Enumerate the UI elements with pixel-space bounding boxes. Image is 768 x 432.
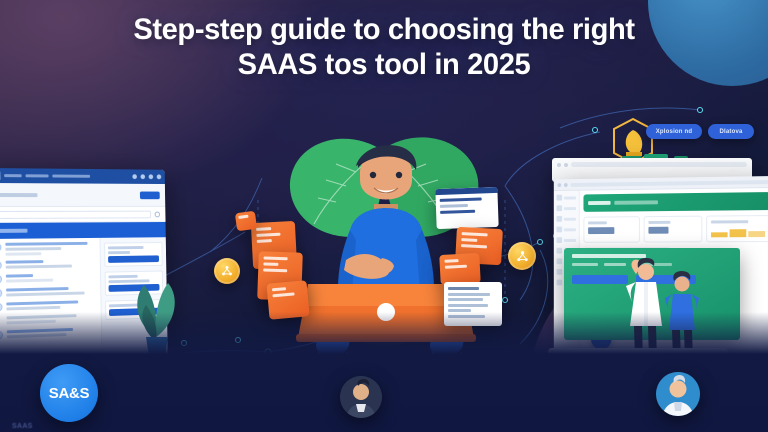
sidebar-item-orders[interactable] — [557, 205, 576, 211]
billing-icon — [557, 258, 563, 264]
row-avatar — [0, 289, 2, 298]
work-items-title — [0, 229, 27, 233]
floor-gradient-decor — [0, 312, 768, 432]
inbox-icon — [557, 216, 563, 222]
list-item[interactable] — [0, 273, 95, 284]
sidebar-item-files[interactable] — [557, 226, 576, 232]
window-dot — [557, 183, 561, 187]
avatar-icon[interactable] — [157, 174, 162, 179]
coin-icon[interactable] — [508, 242, 536, 270]
work-items-header — [0, 222, 166, 239]
page-title: Step-step guide to choosing the right SA… — [12, 12, 757, 83]
floating-tile-orange[interactable] — [235, 211, 257, 232]
stat-card[interactable] — [583, 216, 640, 243]
watermark-text: SAAS — [12, 423, 33, 430]
network-share-icon — [220, 264, 234, 278]
hero-banner: Step-step guide to choosing the right SA… — [0, 0, 768, 432]
nav-item-projects[interactable] — [26, 174, 49, 177]
left-dashboard-toolbar — [0, 183, 165, 207]
new-item-button[interactable] — [140, 191, 160, 199]
list-item[interactable] — [0, 286, 95, 297]
left-dashboard-search-row — [0, 207, 166, 223]
list-item[interactable] — [0, 259, 95, 270]
files-icon — [557, 227, 563, 233]
browser-url-bar[interactable] — [571, 162, 747, 167]
page-title-line-2: SAAS tos tool in 2025 — [44, 47, 723, 82]
breadcrumb — [0, 193, 37, 197]
home-icon — [557, 195, 563, 201]
search-icon[interactable] — [155, 211, 160, 217]
list-item[interactable] — [0, 242, 95, 256]
avatar-photo-2 — [656, 372, 700, 416]
row-avatar — [0, 275, 2, 284]
dashboard-banner — [583, 192, 768, 212]
row-avatar — [0, 303, 3, 312]
left-dashboard-navbar — [0, 168, 165, 184]
top-right-pill-primary[interactable]: Xplosion nd — [646, 124, 702, 139]
network-share-icon — [515, 249, 530, 264]
avatar[interactable] — [340, 376, 382, 418]
floating-card-orange[interactable] — [439, 253, 481, 285]
sidebar-item-home[interactable] — [557, 195, 576, 201]
gear-icon — [557, 280, 563, 286]
stat-value — [649, 227, 669, 234]
window-dot — [564, 183, 568, 187]
top-right-pill-secondary[interactable]: Dlatova — [708, 124, 754, 139]
panel-button-get-started[interactable] — [572, 275, 628, 284]
saas-logo-text: SA&S — [49, 385, 89, 402]
team-icon — [557, 269, 563, 275]
stat-card-row — [583, 215, 768, 243]
right-url-bar[interactable] — [570, 180, 768, 187]
calls-icon — [557, 237, 563, 243]
row-avatar — [0, 261, 2, 270]
browser-dot — [557, 163, 561, 167]
nav-item-dash[interactable] — [4, 174, 22, 177]
pill-label: Xplosion nd — [656, 129, 693, 135]
search-input[interactable] — [0, 210, 151, 218]
stat-value — [588, 227, 614, 234]
coin-icon[interactable] — [214, 258, 240, 284]
saas-logo-badge[interactable]: SA&S — [40, 364, 98, 422]
pill-label: Dlatova — [719, 129, 742, 135]
help-icon[interactable] — [140, 174, 145, 179]
stat-card[interactable] — [706, 215, 768, 242]
floating-window-white[interactable] — [435, 187, 498, 229]
avatar[interactable] — [656, 372, 700, 416]
sidebar-item-inbox[interactable] — [557, 216, 576, 222]
list-item[interactable] — [0, 300, 96, 312]
row-avatar — [0, 243, 2, 252]
bell-icon[interactable] — [132, 174, 137, 179]
nav-item-reports[interactable] — [52, 175, 90, 178]
browser-dot — [564, 163, 568, 167]
stat-card[interactable] — [644, 216, 702, 243]
reports-icon — [557, 248, 563, 254]
sidebar-item-calls[interactable] — [557, 237, 576, 243]
page-title-line-1: Step-step guide to choosing the right — [133, 13, 634, 46]
orders-icon — [557, 205, 563, 211]
avatar-photo-1 — [340, 376, 382, 418]
grid-icon[interactable] — [149, 174, 154, 179]
